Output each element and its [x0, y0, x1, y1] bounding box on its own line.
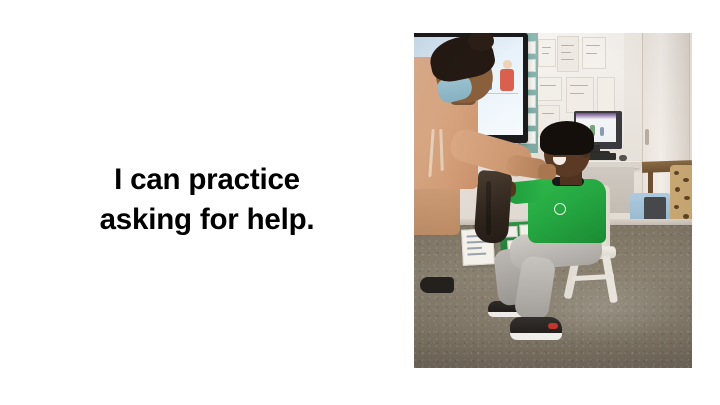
leopard-print-item [670, 165, 692, 227]
smartboard-figure-red-head [503, 60, 512, 69]
paper-line [467, 253, 486, 256]
leopard-spot [674, 205, 679, 209]
whiteboard-writing [561, 59, 574, 60]
student-shoe-sole [510, 333, 562, 340]
slide-canvas: I can practice asking for help. [0, 0, 720, 405]
leopard-spot [684, 196, 690, 200]
whiteboard-writing [542, 53, 549, 54]
slide-caption: I can practice asking for help. [0, 160, 414, 240]
sweatshirt-logo [554, 203, 566, 215]
whiteboard-writing [570, 85, 588, 86]
dark-coat-fold [486, 181, 491, 235]
leopard-spot [674, 171, 679, 175]
door-handle [645, 129, 649, 145]
student-shoe-logo [548, 323, 558, 329]
caption-line-2: asking for help. [0, 200, 414, 240]
whiteboard-note [536, 77, 562, 101]
whiteboard-writing [570, 93, 584, 94]
monitor-content [600, 127, 604, 136]
dark-coat [474, 170, 513, 244]
whiteboard-note [557, 36, 579, 72]
paper-line [467, 247, 482, 250]
smartboard-figure-red [500, 69, 514, 91]
whiteboard-writing [561, 52, 571, 53]
leopard-spot [683, 178, 689, 182]
caption-line-1: I can practice [0, 160, 414, 200]
whiteboard-writing [586, 45, 600, 46]
teacher-shoe [420, 277, 454, 293]
leopard-spot [675, 187, 680, 192]
teacher-hand [538, 164, 556, 180]
whiteboard-writing [561, 45, 574, 46]
whiteboard-writing [542, 113, 554, 114]
student-hair [540, 121, 594, 155]
whiteboard-writing [540, 85, 556, 86]
whiteboard-writing [586, 53, 597, 54]
whiteboard-note [566, 77, 594, 113]
whiteboard-writing [542, 47, 551, 48]
classroom-photo [414, 33, 692, 368]
